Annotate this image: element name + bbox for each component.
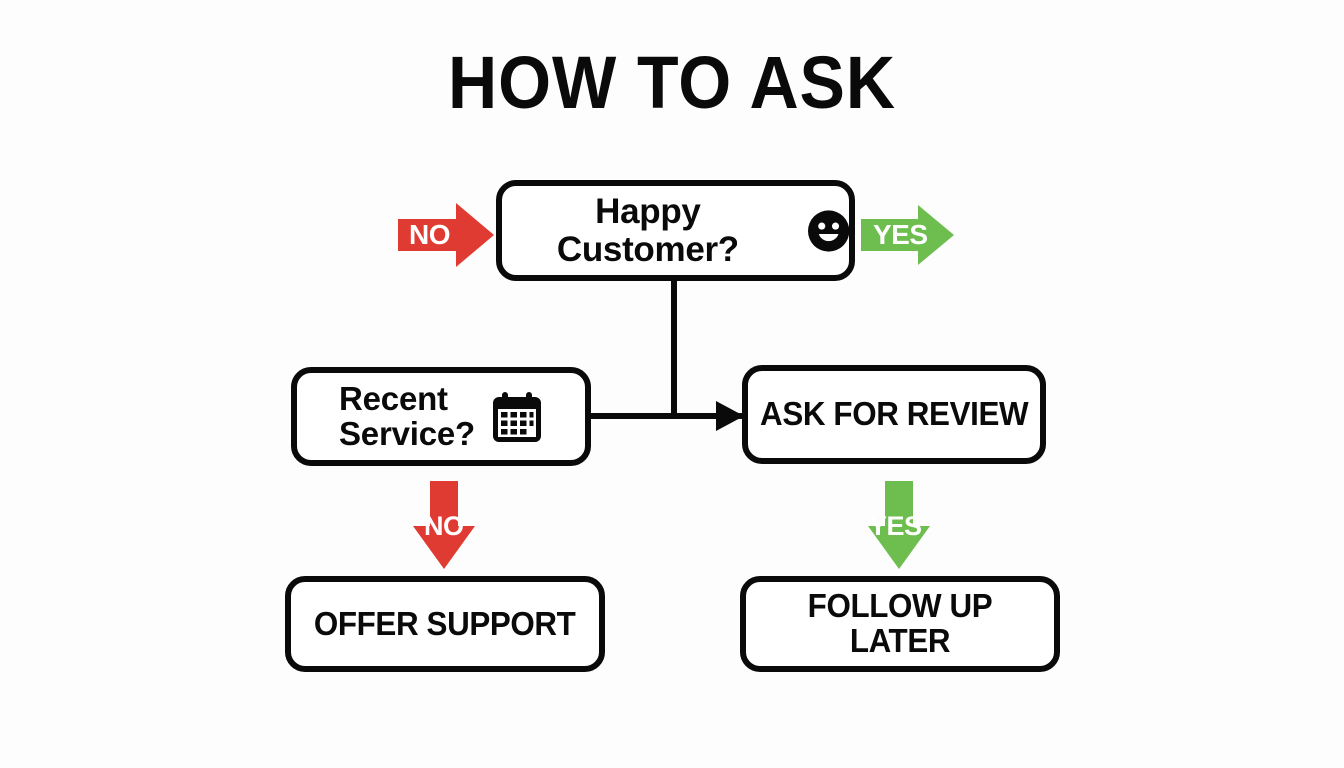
node-offer-support[interactable]: OFFER SUPPORT <box>285 576 605 672</box>
node-ask-for-review-label: ASK FOR REVIEW <box>760 397 1028 432</box>
node-ask-for-review[interactable]: ASK FOR REVIEW <box>742 365 1046 464</box>
node-follow-up-later[interactable]: FOLLOW UP LATER <box>740 576 1060 672</box>
node-happy-customer[interactable]: Happy Customer? <box>496 180 855 281</box>
arrow-label-yes-from-ask-for-review: YES <box>869 513 922 540</box>
calendar-icon <box>491 392 543 442</box>
node-offer-support-label: OFFER SUPPORT <box>314 607 576 642</box>
connector-happy-customer-stem <box>671 278 677 416</box>
node-happy-customer-label: Happy Customer? <box>502 193 794 267</box>
smiley-face-icon <box>808 210 849 252</box>
arrow-label-yes-from-happy-customer: YES <box>873 221 928 249</box>
node-recent-service-label: Recent Service? <box>339 382 475 452</box>
arrow-label-no-from-recent-service: NO <box>424 513 464 540</box>
flowchart-canvas: HOW TO ASK NO YES NO YES Happy Customer?… <box>0 0 1344 768</box>
arrow-label-no-from-happy-customer: NO <box>409 221 450 249</box>
node-recent-service[interactable]: Recent Service? <box>291 367 591 466</box>
node-follow-up-later-label: FOLLOW UP LATER <box>754 589 1047 659</box>
connector-arrowhead-icon <box>716 401 744 431</box>
page-title: HOW TO ASK <box>54 46 1290 120</box>
